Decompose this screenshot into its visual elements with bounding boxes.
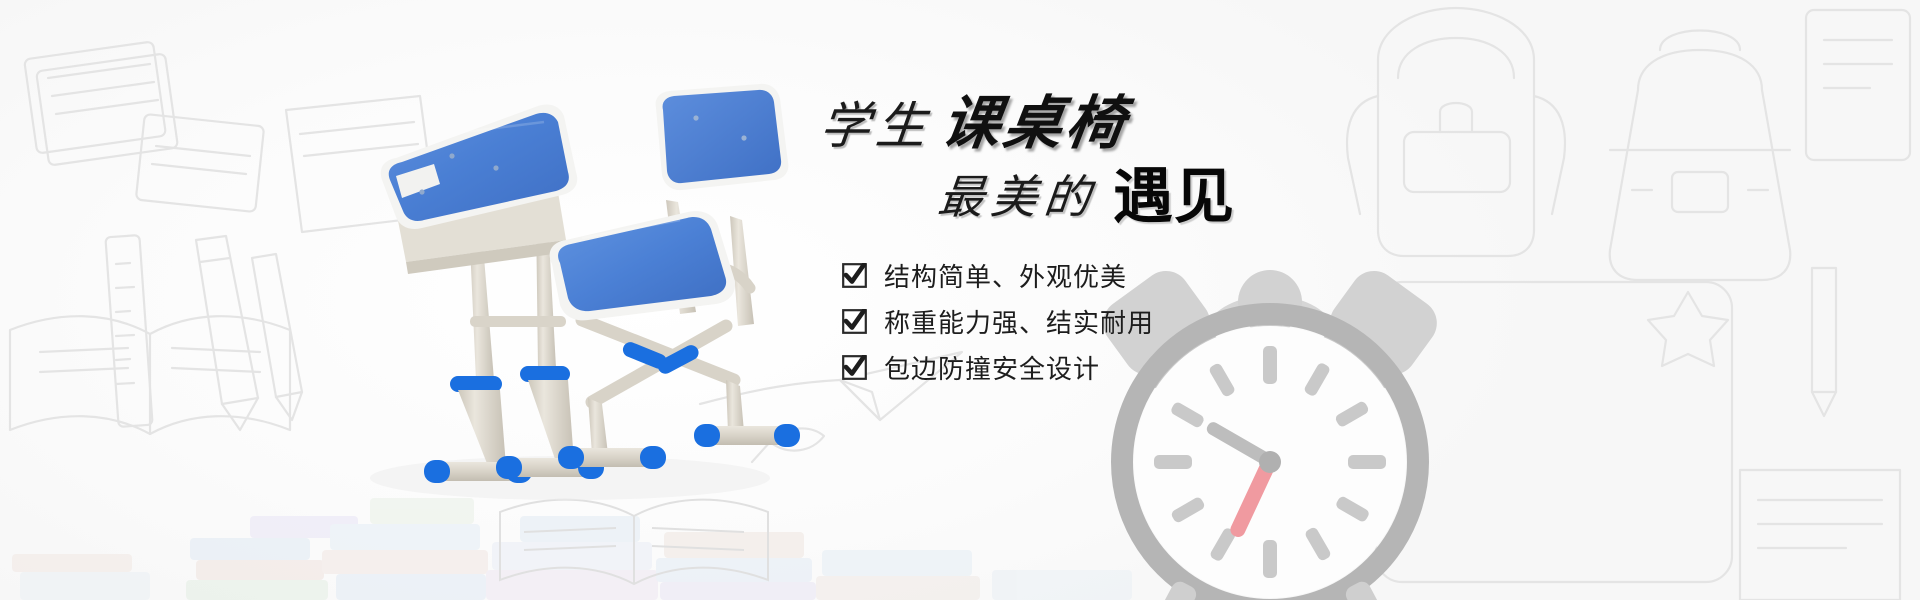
- open-book-outline: [10, 316, 290, 434]
- headline-line-2: 最美的遇见: [938, 167, 1235, 227]
- notebook-outline: [24, 41, 178, 165]
- notebook-outline-3: [1806, 10, 1910, 160]
- headline-line-1: 学生课桌椅: [820, 95, 1128, 153]
- headline-line2-light: 最美的: [936, 175, 1100, 221]
- headline-line1-bold: 课桌椅: [938, 95, 1132, 153]
- feature-item: 结构简单、外观优美: [842, 253, 1154, 297]
- headline-line2-bold: 遇见: [1113, 167, 1235, 227]
- pencil-outline-2: [252, 254, 302, 420]
- satchel-outline: [1610, 31, 1791, 281]
- headline: 学生课桌椅 最美的遇见: [820, 95, 1280, 240]
- feature-label: 结构简单、外观优美: [884, 257, 1127, 294]
- pencil-outline-3: [1812, 268, 1836, 416]
- chair-seat: [550, 211, 735, 320]
- banner-text-block: 学生课桌椅 最美的遇见 结构简单、外观优美: [820, 95, 1280, 395]
- notebook-outline-2: [136, 114, 264, 212]
- feature-label: 称重能力强、结实耐用: [884, 303, 1154, 340]
- check-icon: [842, 355, 867, 380]
- paper-outline: [1740, 470, 1900, 600]
- student-desk-and-chair-image: [330, 80, 800, 510]
- clock-center-pin: [1259, 451, 1281, 473]
- promo-banner: 学生课桌椅 最美的遇见 结构简单、外观优美: [0, 0, 1920, 600]
- feature-label: 包边防撞安全设计: [884, 349, 1100, 386]
- star-outline: [1648, 292, 1728, 366]
- feature-list: 结构简单、外观优美 称重能力强、结实耐用 包: [842, 253, 1154, 391]
- pencil-outline: [196, 236, 258, 430]
- feature-item: 称重能力强、结实耐用: [842, 299, 1154, 343]
- check-icon: [842, 309, 867, 334]
- feature-item: 包边防撞安全设计: [842, 345, 1154, 389]
- chair-backrest: [656, 84, 789, 190]
- ruler-outline: [105, 235, 152, 427]
- check-icon: [842, 263, 867, 288]
- headline-line1-light: 学生: [817, 101, 934, 151]
